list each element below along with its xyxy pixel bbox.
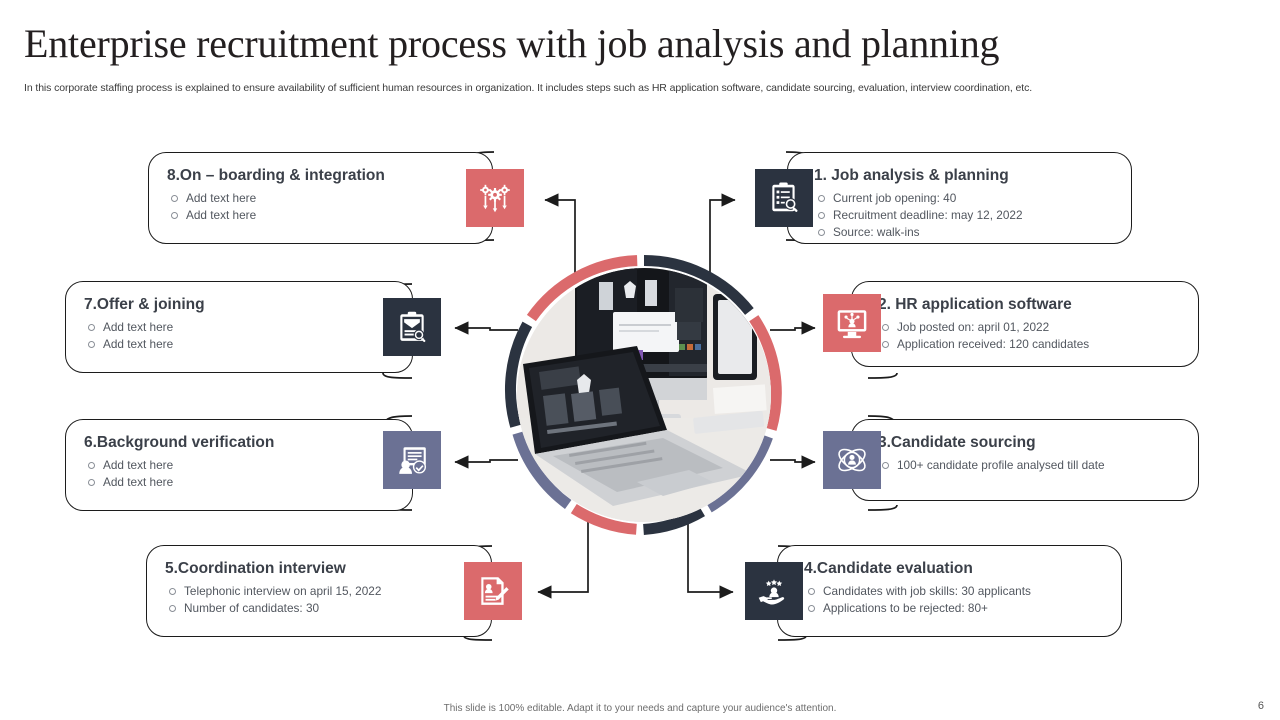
step-icon-tile-8[interactable] [466,169,524,227]
bullet: Telephonic interview on april 15, 2022 [165,583,473,599]
step-card-8[interactable]: 8.On – boarding & integration Add text h… [148,152,493,244]
step-card-3[interactable]: 3.Candidate sourcing 100+ candidate prof… [851,419,1199,501]
step-bullets-7: Add text here Add text here [84,319,394,353]
hub-photo [517,268,771,522]
bullet: Recruitment deadline: may 12, 2022 [814,207,1113,223]
bullet: Candidates with job skills: 30 applicant… [804,583,1103,599]
footer-note: This slide is 100% editable. Adapt it to… [0,703,1280,714]
step-card-7[interactable]: 7.Offer & joining Add text here Add text… [65,281,413,373]
step-title-8: 8.On – boarding & integration [167,167,474,186]
bullet: Add text here [167,190,474,206]
slide: Enterprise recruitment process with job … [0,0,1280,720]
step-icon-tile-3[interactable] [823,431,881,489]
step-icon-tile-2[interactable] [823,294,881,352]
bullet: Application received: 120 candidates [878,336,1180,352]
step-bullets-8: Add text here Add text here [167,190,474,224]
step-title-3: 3.Candidate sourcing [878,434,1180,453]
center-hub [503,254,785,536]
clipboard-search-icon [767,181,801,215]
step-card-6[interactable]: 6.Background verification Add text here … [65,419,413,511]
page-number: 6 [1258,700,1264,712]
document-pen-icon [476,574,510,608]
step-bullets-3: 100+ candidate profile analysed till dat… [878,457,1180,473]
step-title-1: 1. Job analysis & planning [814,167,1113,186]
step-bullets-6: Add text here Add text here [84,457,394,491]
hand-rating-icon [757,574,791,608]
bullet: Current job opening: 40 [814,190,1113,206]
step-icon-tile-5[interactable] [464,562,522,620]
step-bullets-4: Candidates with job skills: 30 applicant… [804,583,1103,617]
step-card-2[interactable]: 2. HR application software Job posted on… [851,281,1199,367]
bullet: Number of candidates: 30 [165,600,473,616]
step-title-5: 5.Coordination interview [165,560,473,579]
step-title-6: 6.Background verification [84,434,394,453]
step-icon-tile-7[interactable] [383,298,441,356]
bullet: Add text here [167,207,474,223]
bullet: Source: walk-ins [814,224,1113,240]
bullet: Add text here [84,319,394,335]
bullet: 100+ candidate profile analysed till dat… [878,457,1180,473]
step-bullets-1: Current job opening: 40 Recruitment dead… [814,190,1113,241]
step-title-2: 2. HR application software [878,296,1180,315]
profile-verify-icon [395,443,429,477]
step-bullets-2: Job posted on: april 01, 2022 Applicatio… [878,319,1180,353]
step-card-4[interactable]: 4.Candidate evaluation Candidates with j… [777,545,1122,637]
bullet: Add text here [84,336,394,352]
bullet: Applications to be rejected: 80+ [804,600,1103,616]
step-bullets-5: Telephonic interview on april 15, 2022 N… [165,583,473,617]
page-title: Enterprise recruitment process with job … [24,20,999,67]
bullet: Add text here [84,474,394,490]
monitor-network-icon [835,306,869,340]
bullet: Add text here [84,457,394,473]
step-title-4: 4.Candidate evaluation [804,560,1103,579]
step-icon-tile-1[interactable] [755,169,813,227]
page-subtitle: In this corporate staffing process is ex… [24,82,1239,94]
atom-person-icon [835,443,869,477]
bullet: Job posted on: april 01, 2022 [878,319,1180,335]
step-icon-tile-6[interactable] [383,431,441,489]
gears-integration-icon [478,181,512,215]
step-title-7: 7.Offer & joining [84,296,394,315]
workspace-photo-illustration [517,268,771,522]
step-card-5[interactable]: 5.Coordination interview Telephonic inte… [146,545,492,637]
step-icon-tile-4[interactable] [745,562,803,620]
offer-letter-search-icon [395,310,429,344]
step-card-1[interactable]: 1. Job analysis & planning Current job o… [787,152,1132,244]
